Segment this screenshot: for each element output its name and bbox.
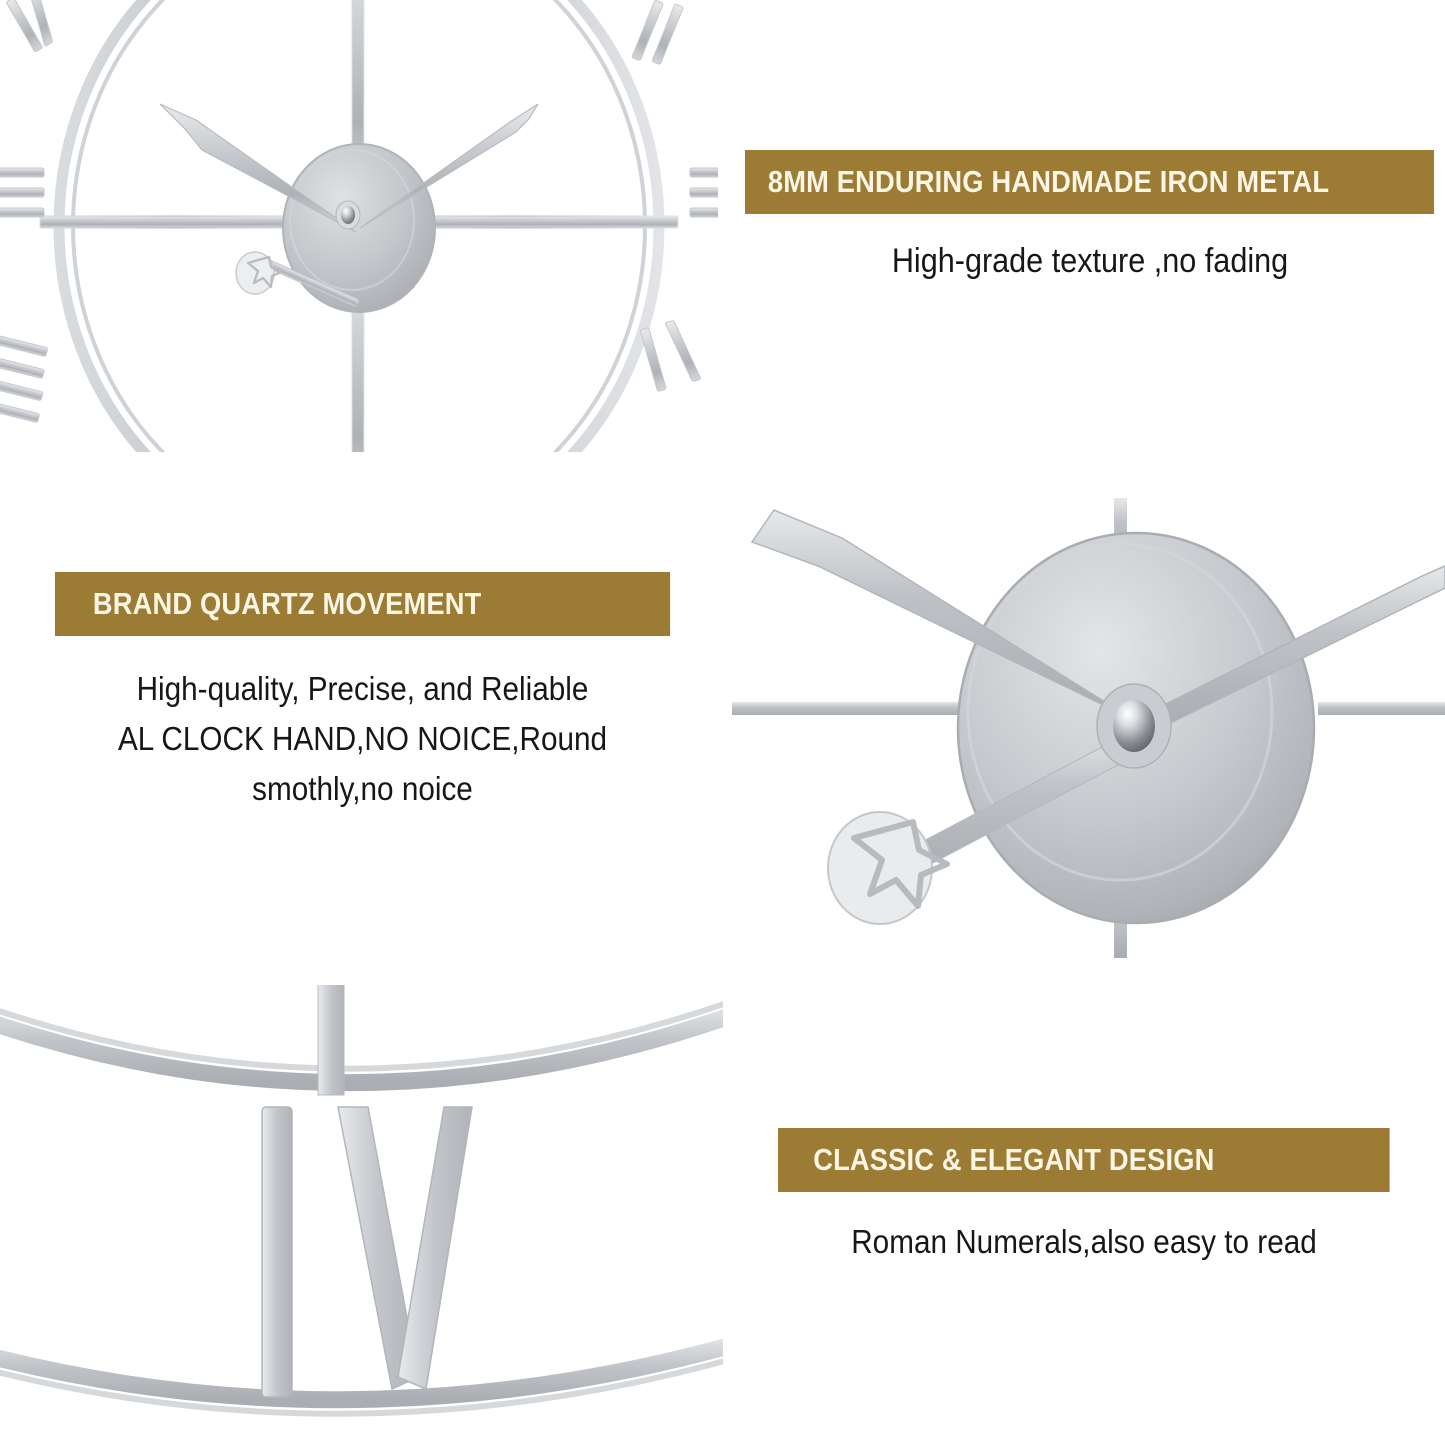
feature-classic-design: CLASSIC & ELEGANT DESIGN Roman Numerals,… bbox=[778, 1128, 1390, 1267]
feature-iron-metal: 8MM ENDURING HANDMADE IRON METAL High-gr… bbox=[745, 150, 1435, 288]
feature-quartz-movement-title: BRAND QUARTZ MOVEMENT bbox=[55, 572, 670, 636]
feature-iron-metal-subtitle: High-grade texture ,no fading bbox=[745, 236, 1435, 288]
movement-hub-macro-photo bbox=[722, 480, 1445, 972]
clock-face-closeup-photo bbox=[0, 0, 718, 452]
subtitle-line: smothly,no noice bbox=[86, 764, 640, 814]
subtitle-line: High-quality, Precise, and Reliable bbox=[86, 664, 640, 714]
centre-nut bbox=[1097, 684, 1171, 768]
subtitle-line: Roman Numerals,also easy to read bbox=[809, 1217, 1360, 1267]
infographic-page: 8MM ENDURING HANDMADE IRON METAL High-gr… bbox=[0, 0, 1445, 1446]
feature-quartz-movement-subtitle: High-quality, Precise, and Reliable AL C… bbox=[55, 664, 670, 814]
feature-iron-metal-title: 8MM ENDURING HANDMADE IRON METAL bbox=[745, 150, 1434, 214]
centre-nut bbox=[336, 201, 360, 229]
feature-classic-design-title: CLASSIC & ELEGANT DESIGN bbox=[778, 1128, 1390, 1192]
clock-hub bbox=[283, 144, 435, 312]
vertical-spoke bbox=[318, 985, 344, 1095]
roman-numeral-detail-photo bbox=[0, 985, 723, 1446]
subtitle-line: High-grade texture ,no fading bbox=[780, 236, 1401, 288]
feature-quartz-movement: BRAND QUARTZ MOVEMENT High-quality, Prec… bbox=[55, 572, 670, 814]
subtitle-line: AL CLOCK HAND,NO NOICE,Round bbox=[86, 714, 640, 764]
feature-classic-design-subtitle: Roman Numerals,also easy to read bbox=[778, 1217, 1390, 1267]
